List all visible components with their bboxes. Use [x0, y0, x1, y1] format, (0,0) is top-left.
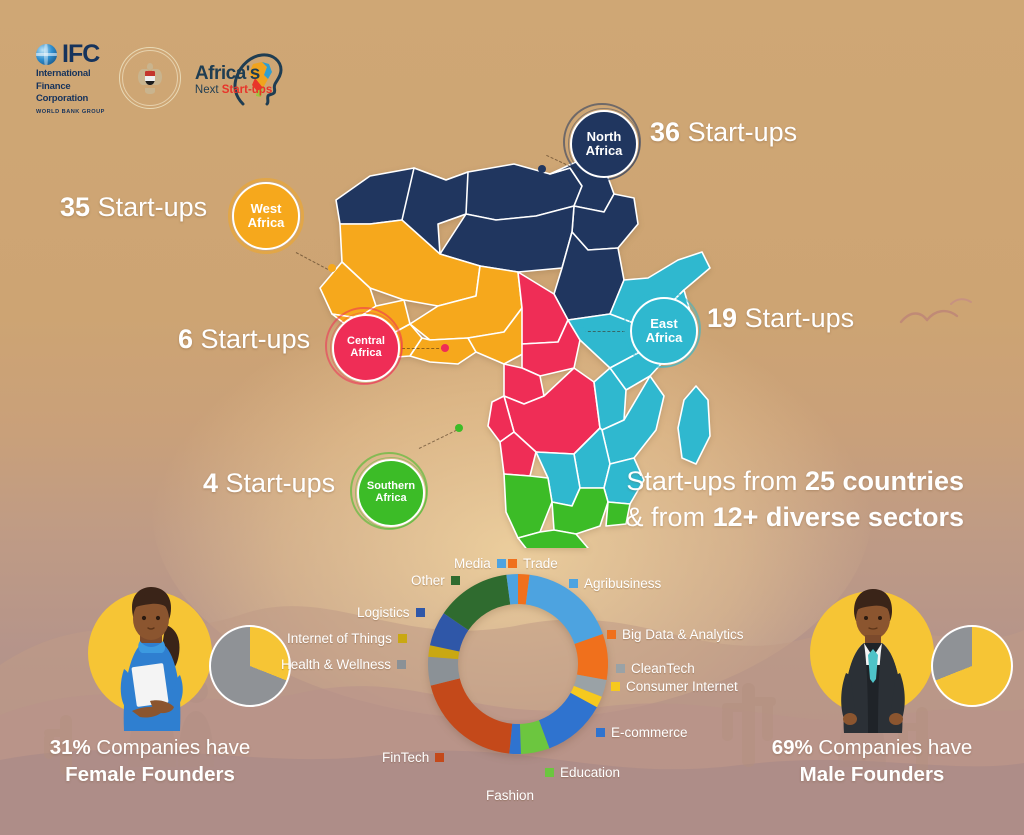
ifc-logo: IFC International Finance Corporation WO… — [36, 42, 105, 115]
stat-central-africa-word: Start-ups — [201, 324, 311, 354]
sector-label-trade: Trade — [508, 556, 558, 571]
stat-north-africa-word: Start-ups — [688, 117, 798, 147]
sector-text-other: Other — [411, 573, 445, 588]
map-dot-central-africa — [441, 344, 449, 352]
badge-north-africa-line2: Africa — [586, 144, 623, 158]
male-percent: 69% — [772, 736, 813, 759]
badge-west-africa-line2: Africa — [248, 216, 285, 230]
male-caption-rest: Companies have — [813, 736, 973, 759]
summary-line-1: Start-ups from 25 countries — [626, 463, 964, 499]
sector-label-health-wellness: Health & Wellness — [281, 657, 406, 672]
stat-north-africa: 36 Start-ups — [650, 117, 797, 148]
female-founders-pie — [209, 625, 291, 707]
map-dot-west-africa — [328, 264, 336, 272]
stat-central-africa-count: 6 — [178, 324, 193, 354]
summary-countries-sectors: Start-ups from 25 countries & from 12+ d… — [626, 463, 964, 536]
sector-donut-chart — [422, 568, 614, 760]
stat-southern-africa-count: 4 — [203, 468, 218, 498]
male-caption-line2: Male Founders — [800, 763, 945, 786]
ifc-name-line-1: International — [36, 69, 105, 80]
egypt-ministry-seal-icon — [119, 47, 181, 109]
leader-central-africa — [402, 348, 444, 349]
stat-southern-africa-word: Start-ups — [226, 468, 336, 498]
stat-east-africa-count: 19 — [707, 303, 737, 333]
sector-text-e-commerce: E-commerce — [611, 725, 688, 740]
map-dot-north-africa — [538, 165, 546, 173]
summary-line1-bold: 25 countries — [805, 466, 964, 496]
swatch-logistics — [416, 608, 425, 617]
sector-label-other: Other — [411, 573, 460, 588]
leader-east-africa — [583, 331, 625, 332]
male-founder-avatar — [810, 583, 934, 735]
swatch-trade — [508, 559, 517, 568]
swatch-internet-of-things — [398, 634, 407, 643]
summary-line2-bold: 12+ diverse sectors — [713, 502, 964, 532]
swatch-e-commerce — [596, 728, 605, 737]
sector-label-agribusiness: Agribusiness — [569, 576, 661, 591]
sector-text-fintech: FinTech — [382, 750, 429, 765]
sector-text-internet-of-things: Internet of Things — [287, 631, 392, 646]
sector-text-fashion: Fashion — [486, 788, 534, 803]
stat-north-africa-count: 36 — [650, 117, 680, 147]
badge-central-africa[interactable]: Central Africa — [332, 314, 400, 382]
female-caption-rest: Companies have — [91, 736, 251, 759]
bird-decoration — [895, 290, 985, 340]
ans-line-1: Africa's — [195, 64, 272, 83]
sector-label-media: Media — [454, 556, 506, 571]
badge-central-africa-line2: Africa — [350, 348, 381, 360]
sector-text-consumer-internet: Consumer Internet — [626, 679, 738, 694]
swatch-cleantech — [616, 664, 625, 673]
sector-text-health-wellness: Health & Wellness — [281, 657, 391, 672]
map-dot-southern-africa — [455, 424, 463, 432]
swatch-education — [545, 768, 554, 777]
badge-southern-africa-line2: Africa — [375, 493, 406, 505]
eagle-emblem-icon — [138, 63, 162, 93]
sector-label-fintech: FinTech — [382, 750, 444, 765]
sector-text-logistics: Logistics — [357, 605, 410, 620]
globe-icon — [36, 44, 57, 65]
stat-west-africa: 35 Start-ups — [60, 192, 207, 223]
summary-line1-pre: Start-ups from — [626, 466, 805, 496]
infographic-canvas: IFC International Finance Corporation WO… — [0, 0, 1024, 835]
sector-label-internet-of-things: Internet of Things — [287, 631, 407, 646]
sector-label-education: Education — [545, 765, 620, 780]
badge-east-africa-line2: Africa — [646, 331, 683, 345]
stat-central-africa: 6 Start-ups — [178, 324, 310, 355]
sector-label-big-data: Big Data & Analytics — [607, 627, 744, 642]
badge-east-africa-line1: East — [650, 317, 677, 331]
badge-southern-africa[interactable]: Southern Africa — [357, 459, 425, 527]
ans-line-2-next: Next — [195, 84, 222, 96]
male-founders-pie — [931, 625, 1013, 707]
badge-west-africa[interactable]: West Africa — [232, 182, 300, 250]
stat-west-africa-count: 35 — [60, 192, 90, 222]
donut-slice-fintech[interactable] — [431, 678, 513, 753]
sector-text-trade: Trade — [523, 556, 558, 571]
male-founders-block: 69% Companies have Male Founders — [722, 585, 1022, 788]
ifc-name-line-2: Finance — [36, 82, 105, 93]
sector-text-agribusiness: Agribusiness — [584, 576, 661, 591]
female-caption-line2: Female Founders — [65, 763, 235, 786]
female-founders-caption: 31% Companies have Female Founders — [0, 735, 300, 788]
badge-north-africa-line1: North — [587, 130, 622, 144]
swatch-fintech — [435, 753, 444, 762]
stat-southern-africa: 4 Start-ups — [203, 468, 335, 499]
stat-west-africa-word: Start-ups — [98, 192, 208, 222]
swatch-big-data — [607, 630, 616, 639]
sector-label-cleantech: CleanTech — [616, 661, 695, 676]
ifc-abbreviation: IFC — [62, 42, 99, 67]
female-percent: 31% — [50, 736, 91, 759]
summary-line2-pre: & from — [626, 502, 713, 532]
ans-line-2-startups: Start-ups — [222, 84, 272, 96]
sector-text-big-data: Big Data & Analytics — [622, 627, 744, 642]
logo-bar: IFC International Finance Corporation WO… — [36, 42, 283, 115]
sector-text-education: Education — [560, 765, 620, 780]
sector-text-media: Media — [454, 556, 491, 571]
badge-west-africa-line1: West — [251, 202, 282, 216]
swatch-agribusiness — [569, 579, 578, 588]
sector-label-fashion: Fashion — [486, 788, 534, 803]
stat-east-africa-word: Start-ups — [745, 303, 855, 333]
sector-text-cleantech: CleanTech — [631, 661, 695, 676]
female-founder-avatar — [88, 583, 212, 735]
badge-north-africa[interactable]: North Africa — [570, 110, 638, 178]
sector-label-e-commerce: E-commerce — [596, 725, 688, 740]
africas-next-startups-logo: Africa's Next Start-ups — [195, 49, 283, 107]
swatch-media — [497, 559, 506, 568]
ifc-name-line-3: Corporation — [36, 94, 105, 105]
badge-east-africa[interactable]: East Africa — [630, 297, 698, 365]
female-founders-block: 31% Companies have Female Founders — [0, 585, 300, 788]
stat-east-africa: 19 Start-ups — [707, 303, 854, 334]
map-dot-east-africa — [578, 327, 586, 335]
world-bank-group-label: WORLD BANK GROUP — [36, 109, 105, 115]
swatch-consumer-internet — [611, 682, 620, 691]
swatch-other — [451, 576, 460, 585]
swatch-health-wellness — [397, 660, 406, 669]
summary-line-2: & from 12+ diverse sectors — [626, 499, 964, 535]
male-founders-caption: 69% Companies have Male Founders — [722, 735, 1022, 788]
sector-label-logistics: Logistics — [357, 605, 425, 620]
sector-label-consumer-internet: Consumer Internet — [611, 679, 738, 694]
